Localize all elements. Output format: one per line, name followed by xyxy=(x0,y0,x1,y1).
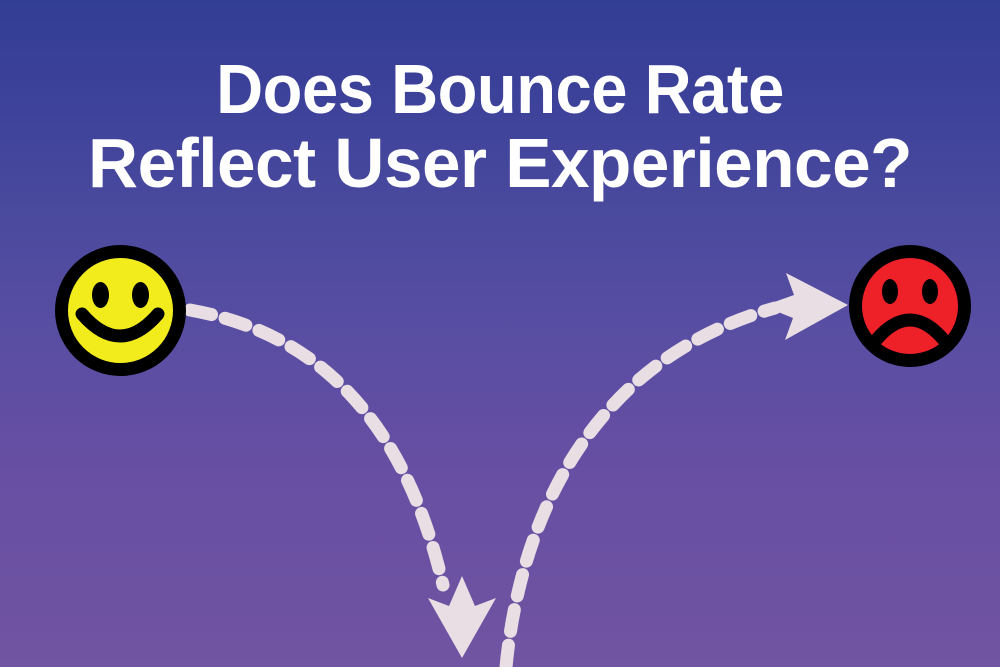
return-to-frown-arrowhead xyxy=(763,273,848,340)
page-title: Does Bounce Rate Reflect User Experience… xyxy=(0,52,1000,200)
frowning-face xyxy=(849,245,971,367)
title-line-1: Does Bounce Rate xyxy=(35,52,965,126)
return-to-frown-arrow-path xyxy=(506,308,775,667)
smiley-face xyxy=(55,245,186,376)
poster-canvas: Does Bounce Rate Reflect User Experience… xyxy=(0,0,1000,667)
bounce-away-arrow-path xyxy=(190,310,443,585)
frown-mouth-icon xyxy=(862,258,958,354)
title-line-2: Reflect User Experience? xyxy=(5,126,995,200)
smiley-mouth-icon xyxy=(68,258,173,363)
